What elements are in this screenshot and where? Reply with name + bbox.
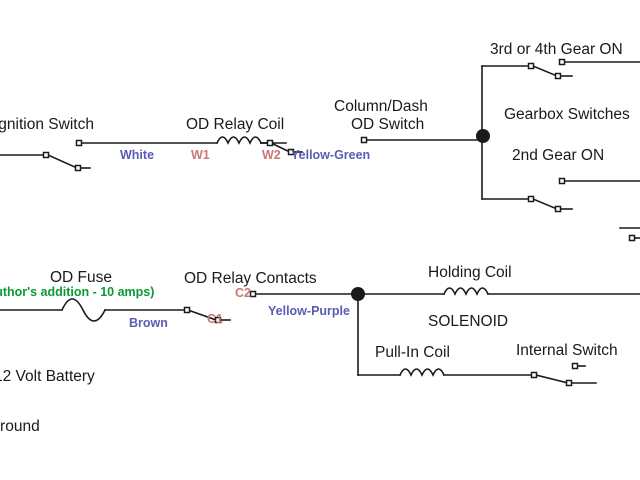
- wire-3rd4th-blade: [533, 66, 557, 76]
- terminal-internal-switch-in: [532, 373, 537, 378]
- terminal-ignition-in: [44, 153, 49, 158]
- label-column-dash-od-switch-line2: OD Switch: [351, 117, 424, 133]
- label-terminal-c2: C2: [235, 287, 251, 300]
- label-internal-switch: Internal Switch: [516, 343, 618, 359]
- label-2nd-gear-on: 2nd Gear ON: [512, 148, 604, 164]
- wiring-diagram: Ignition Switch OD Relay Coil Column/Das…: [0, 0, 640, 480]
- label-3rd-or-4th-gear-on: 3rd or 4th Gear ON: [490, 42, 623, 58]
- label-holding-coil: Holding Coil: [428, 265, 512, 281]
- label-terminal-w1: W1: [191, 149, 210, 162]
- label-terminal-c1: C1: [207, 313, 223, 326]
- label-pull-in-coil: Pull-In Coil: [375, 345, 450, 361]
- label-gearbox-switches: Gearbox Switches: [504, 107, 630, 123]
- junction-solenoid: [351, 287, 365, 301]
- label-wire-yellow-purple: Yellow-Purple: [268, 305, 350, 318]
- od-relay-coil-windings: [217, 137, 261, 143]
- label-ground: Ground: [0, 419, 40, 435]
- od-fuse-symbol: [62, 299, 105, 321]
- wire-2nd-blade: [533, 199, 557, 209]
- wire-internal-switch-blade: [536, 375, 568, 383]
- label-solenoid: SOLENOID: [428, 314, 508, 330]
- label-ignition-switch: Ignition Switch: [0, 117, 94, 133]
- wire-ignition-blade: [48, 155, 77, 168]
- terminal-od-switch-in: [268, 141, 273, 146]
- terminal-2nd-out: [556, 207, 561, 212]
- terminal-2nd-fixed: [560, 179, 565, 184]
- label-wire-yellow-green: Yellow-Green: [291, 149, 370, 162]
- terminal-od-switch-fixed: [362, 138, 367, 143]
- terminal-white-start: [77, 141, 82, 146]
- label-od-fuse: OD Fuse: [50, 270, 112, 286]
- label-wire-brown: Brown: [129, 317, 168, 330]
- terminal-ignition-out: [76, 166, 81, 171]
- label-wire-white: White: [120, 149, 154, 162]
- terminal-right-edge-frag: [630, 236, 635, 241]
- label-od-relay-contacts: OD Relay Contacts: [184, 271, 317, 287]
- terminal-2nd-in: [529, 197, 534, 202]
- label-column-dash-od-switch-line1: Column/Dash: [334, 99, 428, 115]
- pullin-coil-windings: [400, 369, 444, 375]
- holding-coil-windings: [444, 288, 488, 294]
- wiring-schematic-svg: [0, 0, 640, 480]
- terminal-3rd4th-fixed: [560, 60, 565, 65]
- terminal-c2: [251, 292, 256, 297]
- terminal-c1-in: [185, 308, 190, 313]
- label-od-fuse-note: (Author's addition - 10 amps): [0, 286, 154, 299]
- terminal-internal-switch-fixed: [573, 364, 578, 369]
- label-battery: 12 Volt Battery: [0, 369, 95, 385]
- terminal-3rd4th-out: [556, 74, 561, 79]
- label-terminal-w2: W2: [262, 149, 281, 162]
- label-od-relay-coil: OD Relay Coil: [186, 117, 284, 133]
- terminal-3rd4th-in: [529, 64, 534, 69]
- junction-gearbox: [476, 129, 490, 143]
- terminal-internal-switch-out: [567, 381, 572, 386]
